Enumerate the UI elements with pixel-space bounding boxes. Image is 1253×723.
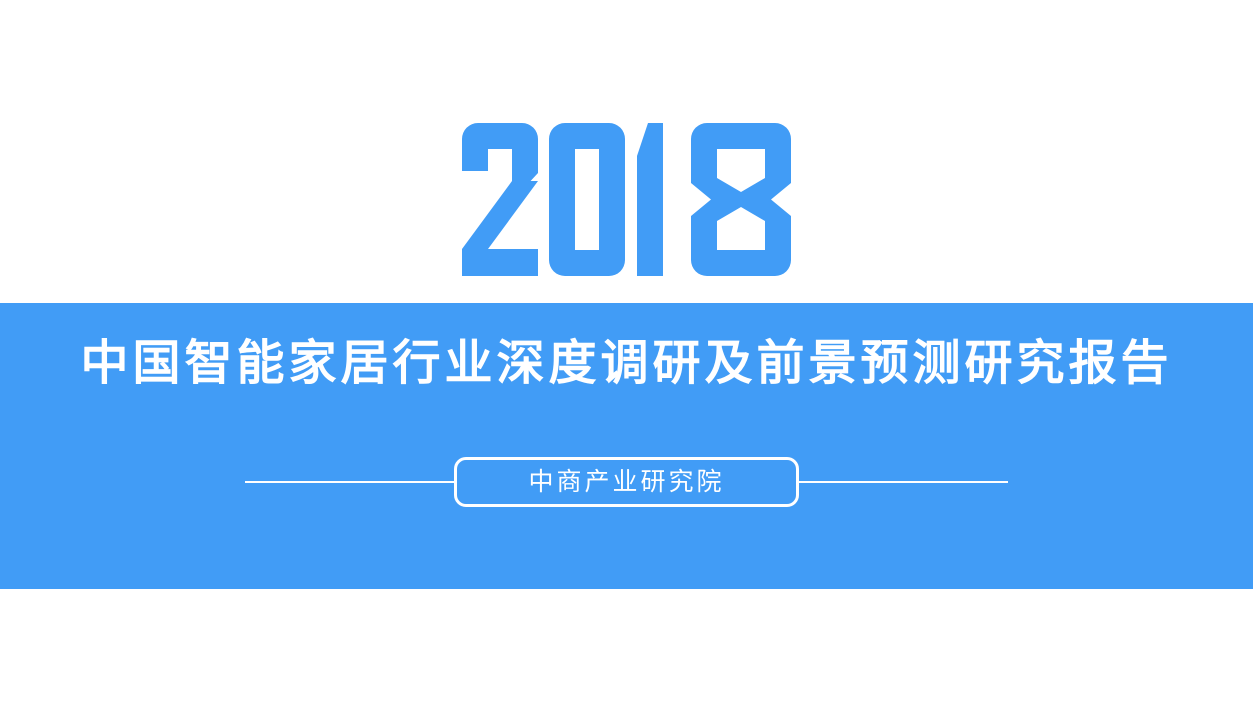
right-rule (799, 481, 1008, 483)
organization-label: 中商产业研究院 (528, 470, 724, 495)
year-2018-icon (460, 123, 793, 276)
report-cover-slide: 中国智能家居行业深度调研及前景预测研究报告 中商产业研究院 (0, 0, 1253, 723)
organization-badge: 中商产业研究院 (454, 457, 799, 507)
subtitle-row: 中商产业研究院 (0, 456, 1253, 508)
page-title: 中国智能家居行业深度调研及前景预测研究报告 (0, 333, 1253, 395)
year-display (0, 123, 1253, 276)
left-rule (245, 481, 454, 483)
